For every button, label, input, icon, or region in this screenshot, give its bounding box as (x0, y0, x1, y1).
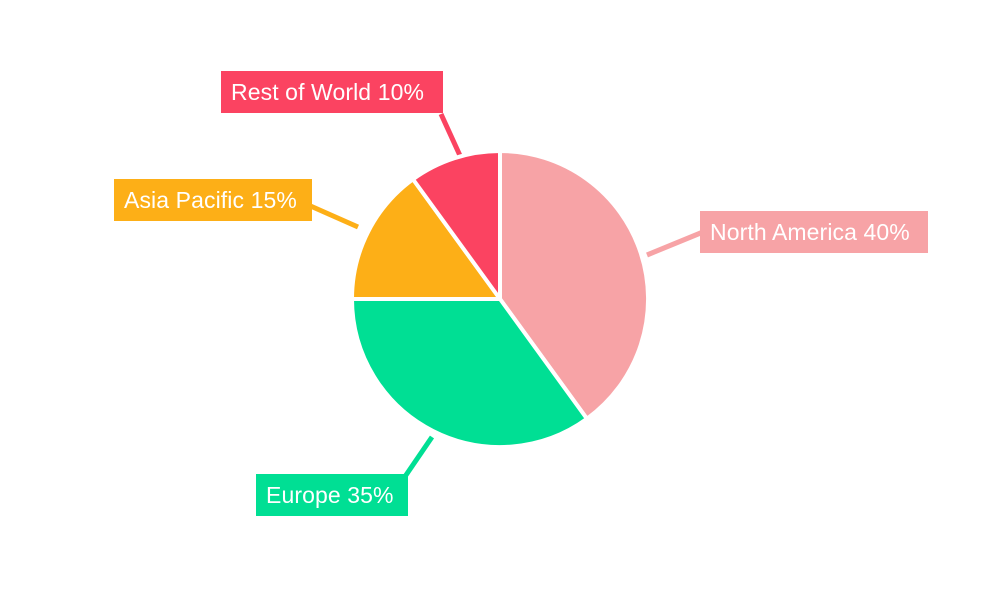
leader-line-europe (404, 437, 432, 478)
leader-line-asia-pacific (306, 204, 358, 227)
pie-label-rest-of-world[interactable]: Rest of World 10% (221, 71, 434, 113)
leader-line-rest-of-world (441, 114, 462, 160)
pie-label-asia-pacific[interactable]: Asia Pacific 15% (114, 179, 307, 221)
leader-line-north-america (647, 232, 703, 255)
pie-label-europe[interactable]: Europe 35% (256, 474, 404, 516)
pie-slices (352, 151, 648, 447)
pie-chart-canvas (0, 0, 1000, 600)
pie-chart-figure: North America 40% Europe 35% Asia Pacifi… (0, 0, 1000, 600)
pie-label-north-america[interactable]: North America 40% (700, 211, 920, 253)
